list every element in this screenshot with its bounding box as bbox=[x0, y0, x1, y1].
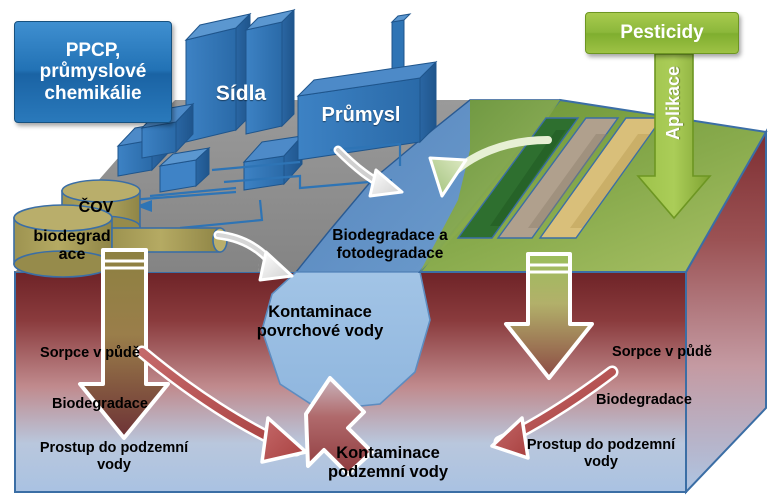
tower-b-face bbox=[246, 22, 282, 134]
industrial-plant bbox=[298, 14, 436, 160]
label-prumysl: Průmysl bbox=[306, 104, 416, 127]
label-sidla: Sídla bbox=[186, 82, 296, 106]
tower-b-side bbox=[282, 10, 294, 126]
label-cov: ČOV bbox=[60, 199, 132, 217]
label-biodegradace-tank: biodegrad ace bbox=[20, 228, 124, 263]
smokestack-top bbox=[392, 14, 410, 22]
callout-ppcp[interactable]: PPCP, průmyslové chemikálie bbox=[14, 21, 172, 123]
diagram-canvas: PPCP, průmyslové chemikálie Pesticidy Sí… bbox=[0, 0, 780, 503]
callout-pesticidy[interactable]: Pesticidy bbox=[585, 12, 739, 54]
label-aplikace: Aplikace bbox=[663, 48, 685, 158]
